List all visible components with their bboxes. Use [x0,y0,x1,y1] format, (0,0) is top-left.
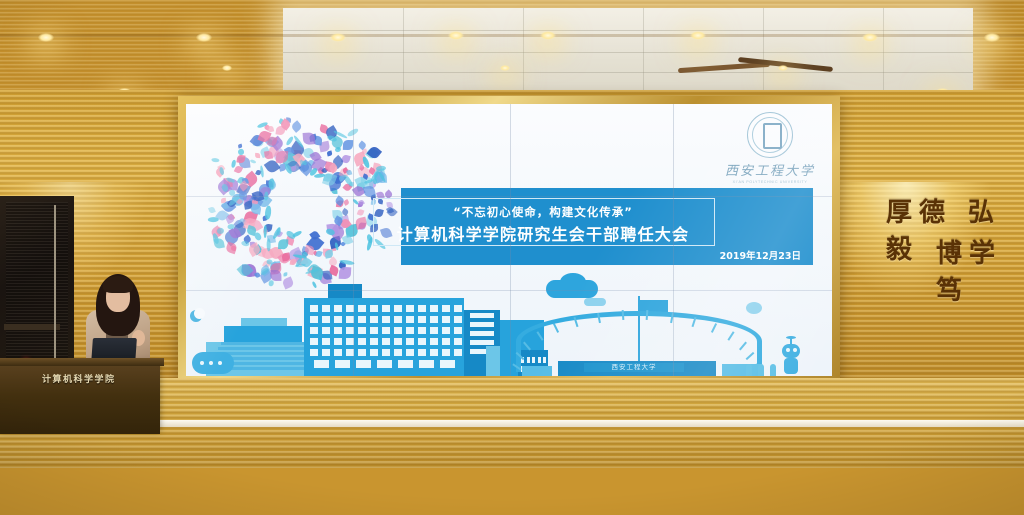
flower-leaf [208,217,219,222]
flower-leaf [263,225,266,238]
cloud-icon [560,273,586,291]
cloud-icon [746,302,762,314]
building-window [358,316,366,323]
building-window [470,313,494,318]
university-name-en: XI'AN POLYTECHNIC UNIVERSITY [722,180,818,184]
building-window [406,305,414,312]
slide-title-block: “不忘初心使命，构建文化传承” 计算机科学学院研究生会干部聘任大会 2019年1… [401,188,813,265]
flower-petal [302,133,314,145]
building-window [470,322,494,327]
flower-petal [346,169,352,175]
flower-petal [278,239,289,250]
flower-leaf [267,238,271,251]
building-window [382,305,390,312]
flower-leaf [264,206,271,220]
screen-tile-seam [186,290,832,291]
building-window [382,316,390,323]
ceiling-downlight [222,65,232,71]
ceiling-spotlight [862,33,878,42]
ceiling-downlight [778,65,788,71]
building-window [370,305,378,312]
screen-tile-seam [186,196,832,197]
building-window [322,305,330,312]
audience [0,330,1024,515]
building-window [334,305,342,312]
ceiling-spotlight [690,31,706,40]
building-window [454,316,462,323]
building-window [418,305,426,312]
auditorium-photo: 厚德 弘毅 博学 笃 西安工程大学 XI'AN POLYTECHNIC UNIV… [0,0,1024,515]
flower-petal [315,250,322,257]
ceiling-spotlight [330,33,346,42]
building-window [394,305,402,312]
ceiling-white-panel [283,8,973,94]
flower-leaf [334,146,342,153]
building-window [454,305,462,312]
building-window [418,316,426,323]
flower-petal [366,145,381,160]
flower-petal [343,199,350,206]
ceiling [0,0,1024,96]
flower-leaf [269,178,275,189]
flower-petal [355,216,368,229]
arch-truss [621,310,624,320]
building-window [406,316,414,323]
flower-leaf [291,230,302,238]
building-window [310,305,318,312]
flower-petal [357,209,364,216]
cloud-icon [584,298,606,306]
building-window [358,305,366,312]
building-window [322,316,330,323]
building-window [430,305,438,312]
flower-petal [226,242,238,254]
flower-leaf [260,165,265,177]
slide-main-title: 计算机科学学院研究生会干部聘任大会 [375,221,711,245]
flower-petal [290,120,303,133]
flower-leaf [254,232,262,241]
building-window [370,316,378,323]
flower-petal [276,125,287,136]
ceiling-downlight [500,65,510,71]
presenter-fringe [103,276,133,293]
ceiling-spotlight [38,33,54,42]
ceiling-spotlight [540,31,556,40]
moon-cut [194,308,205,319]
university-seal-icon [747,112,793,158]
building-window [334,316,342,323]
ceiling-fan [678,60,833,76]
slide-quote: “不忘初心使命，构建文化传承” [383,204,703,220]
flower-leaf [210,157,219,162]
ceiling-spotlight [984,33,1000,42]
building-window [394,316,402,323]
wall-motto-line-2: 博学 笃 [936,233,1024,307]
flower-petal [255,153,260,158]
flower-petal [343,140,353,150]
ceiling-spotlight [196,33,212,42]
building-window [442,305,450,312]
building-window [442,316,450,323]
skyline-building [328,284,362,298]
skyline-building [241,318,287,326]
floral-wreath-graphic [194,112,399,287]
building-window [310,316,318,323]
university-logo: 西安工程大学 XI'AN POLYTECHNIC UNIVERSITY [722,112,818,184]
flower-petal [326,150,331,155]
university-name-cn: 西安工程大学 [722,160,818,179]
building-window [430,316,438,323]
slide-date: 2019年12月23日 [720,248,801,262]
flower-petal [358,199,365,206]
flower-leaf [238,149,244,155]
ceiling-spotlight [448,31,464,40]
flower-petal [209,206,217,214]
